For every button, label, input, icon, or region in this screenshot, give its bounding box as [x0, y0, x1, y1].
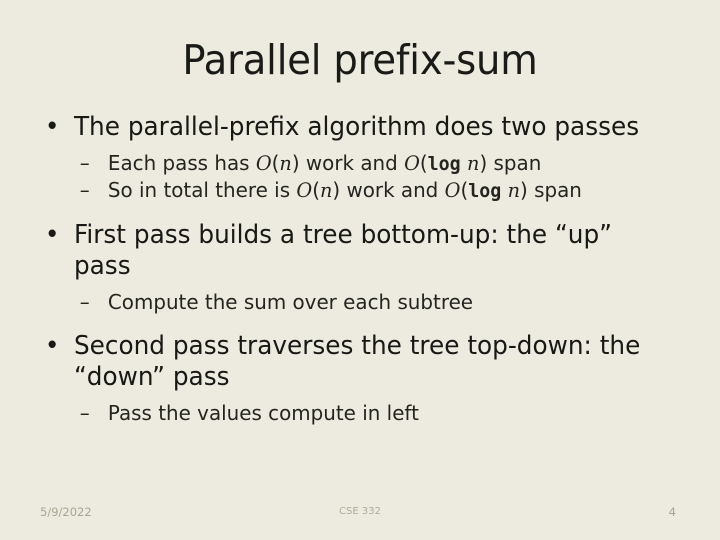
math-run: n	[467, 152, 479, 175]
code-run: log	[428, 153, 461, 175]
text-run: ) span	[479, 151, 541, 175]
text-run: (	[420, 151, 428, 175]
footer-page-number: 4	[669, 505, 676, 519]
math-run: O	[404, 152, 420, 175]
spacer	[40, 315, 686, 331]
math-run: O	[296, 179, 312, 202]
slide-body: • The parallel-prefix algorithm does two…	[40, 112, 686, 426]
text-run: So in total there is	[108, 178, 296, 202]
text-run: ) work and	[332, 178, 444, 202]
bullet-text: Pass the values compute in left	[108, 401, 419, 425]
bullet-level2: – Pass the values compute in left	[40, 400, 667, 426]
bullet-marker-dash: –	[80, 150, 90, 176]
bullet-marker-dot: •	[45, 112, 60, 143]
bullet-level2: – Compute the sum over each subtree	[40, 289, 667, 315]
code-run: log	[468, 180, 501, 202]
bullet-text: The parallel-prefix algorithm does two p…	[74, 112, 639, 142]
slide-title: Parallel prefix-sum	[22, 36, 699, 84]
spacer	[40, 204, 686, 220]
math-run: O	[256, 152, 272, 175]
bullet-level2: – Each pass has O(n) work and O(log n) s…	[40, 150, 667, 177]
bullet-level1: • Second pass traverses the tree top-dow…	[40, 331, 667, 393]
text-run: (	[312, 178, 320, 202]
bullet-text: Compute the sum over each subtree	[108, 290, 473, 314]
bullet-marker-dot: •	[45, 220, 60, 251]
text-run: Each pass has	[108, 151, 256, 175]
bullet-text: Second pass traverses the tree top-down:…	[74, 331, 640, 392]
bullet-text: First pass builds a tree bottom-up: the …	[74, 220, 612, 281]
bullet-marker-dash: –	[80, 400, 90, 426]
text-run: (	[272, 151, 280, 175]
bullet-marker-dash: –	[80, 177, 90, 203]
math-run: n	[508, 179, 520, 202]
bullet-text: So in total there is O(n) work and O(log…	[108, 178, 582, 202]
math-run: n	[279, 152, 291, 175]
bullet-marker-dot: •	[45, 331, 60, 362]
bullet-text: Each pass has O(n) work and O(log n) spa…	[108, 151, 541, 175]
bullet-level1: • The parallel-prefix algorithm does two…	[40, 112, 667, 143]
math-run: n	[320, 179, 332, 202]
bullet-level2: – So in total there is O(n) work and O(l…	[40, 177, 667, 204]
math-run: O	[445, 179, 461, 202]
text-run: ) work and	[292, 151, 404, 175]
text-run: ) span	[520, 178, 582, 202]
footer-course: CSE 332	[0, 506, 720, 517]
bullet-level1: • First pass builds a tree bottom-up: th…	[40, 220, 667, 282]
slide: Parallel prefix-sum • The parallel-prefi…	[0, 0, 720, 540]
slide-footer: 5/9/2022 CSE 332 4	[0, 505, 720, 527]
bullet-marker-dash: –	[80, 289, 90, 315]
